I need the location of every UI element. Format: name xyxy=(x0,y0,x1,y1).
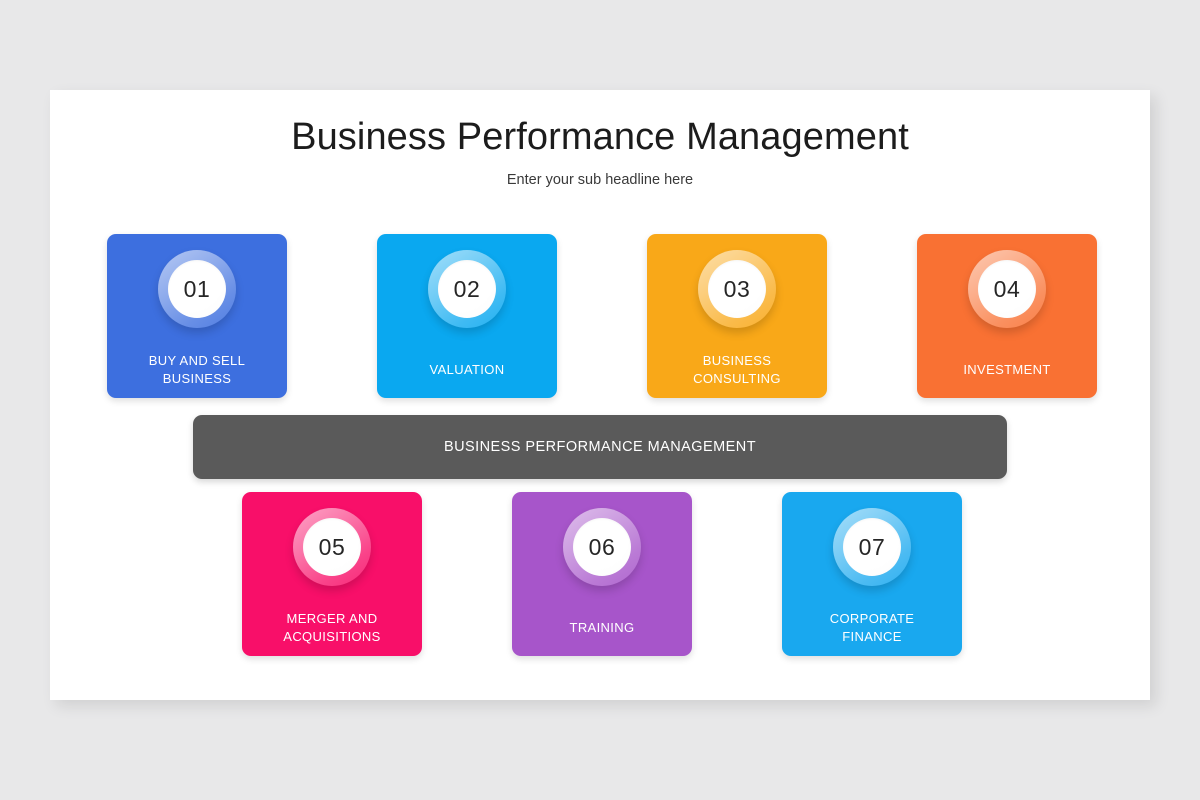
card-label: TRAINING xyxy=(518,619,686,638)
card-label: MERGER AND ACQUISITIONS xyxy=(248,610,416,647)
process-card-03[interactable]: 03BUSINESS CONSULTING xyxy=(647,234,827,398)
step-number: 02 xyxy=(454,278,481,301)
process-card-07[interactable]: 07CORPORATE FINANCE xyxy=(782,492,962,656)
step-number: 07 xyxy=(859,536,886,559)
badge-disc: 07 xyxy=(843,518,901,576)
process-card-01[interactable]: 01BUY AND SELL BUSINESS xyxy=(107,234,287,398)
step-badge-05: 05 xyxy=(293,508,371,586)
step-badge-06: 06 xyxy=(563,508,641,586)
process-card-04[interactable]: 04INVESTMENT xyxy=(917,234,1097,398)
card-label: BUSINESS CONSULTING xyxy=(653,352,821,389)
page-title: Business Performance Management xyxy=(50,116,1150,159)
center-banner[interactable]: BUSINESS PERFORMANCE MANAGEMENT xyxy=(193,415,1007,479)
card-label: INVESTMENT xyxy=(923,361,1091,380)
badge-disc: 04 xyxy=(978,260,1036,318)
step-number: 04 xyxy=(994,278,1021,301)
page-subtitle: Enter your sub headline here xyxy=(50,172,1150,188)
card-label: BUY AND SELL BUSINESS xyxy=(113,352,281,389)
card-label: CORPORATE FINANCE xyxy=(788,610,956,647)
step-badge-03: 03 xyxy=(698,250,776,328)
step-badge-04: 04 xyxy=(968,250,1046,328)
step-badge-02: 02 xyxy=(428,250,506,328)
badge-disc: 03 xyxy=(708,260,766,318)
badge-disc: 02 xyxy=(438,260,496,318)
step-number: 05 xyxy=(319,536,346,559)
card-label: VALUATION xyxy=(383,361,551,380)
step-number: 06 xyxy=(589,536,616,559)
step-number: 03 xyxy=(724,278,751,301)
center-banner-label: BUSINESS PERFORMANCE MANAGEMENT xyxy=(444,439,756,455)
step-badge-07: 07 xyxy=(833,508,911,586)
badge-disc: 01 xyxy=(168,260,226,318)
process-card-05[interactable]: 05MERGER AND ACQUISITIONS xyxy=(242,492,422,656)
process-card-06[interactable]: 06TRAINING xyxy=(512,492,692,656)
badge-disc: 05 xyxy=(303,518,361,576)
badge-disc: 06 xyxy=(573,518,631,576)
slide-canvas: Business Performance Management Enter yo… xyxy=(50,90,1150,700)
step-number: 01 xyxy=(184,278,211,301)
step-badge-01: 01 xyxy=(158,250,236,328)
process-card-02[interactable]: 02VALUATION xyxy=(377,234,557,398)
